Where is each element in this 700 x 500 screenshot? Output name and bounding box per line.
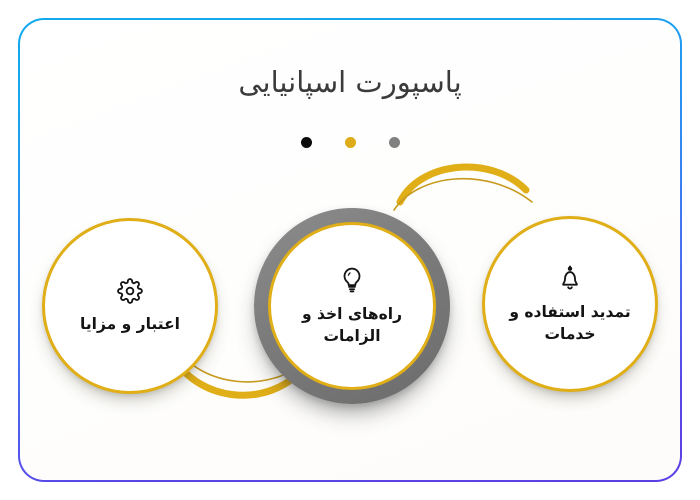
lightbulb-icon [339,266,365,294]
gear-icon [117,278,143,304]
infographic-frame: پاسپورت اسپانیایی [18,18,682,482]
bell-icon [557,264,583,292]
node-right-label: تمدید استفاده و خدمات [497,301,642,345]
infographic-canvas: پاسپورت اسپانیایی [20,20,680,480]
node-stage: اعتبار و مزایا راه‌های اخذ و الزامات [20,20,680,480]
node-center-ring: راه‌های اخذ و الزامات [254,208,450,404]
node-left-benefits[interactable]: اعتبار و مزایا [42,218,218,394]
node-right-renewal[interactable]: تمدید استفاده و خدمات [482,216,658,392]
node-center-requirements[interactable]: راه‌های اخذ و الزامات [268,222,436,390]
node-left-label: اعتبار و مزایا [68,313,192,335]
node-center-label: راه‌های اخذ و الزامات [290,303,414,347]
